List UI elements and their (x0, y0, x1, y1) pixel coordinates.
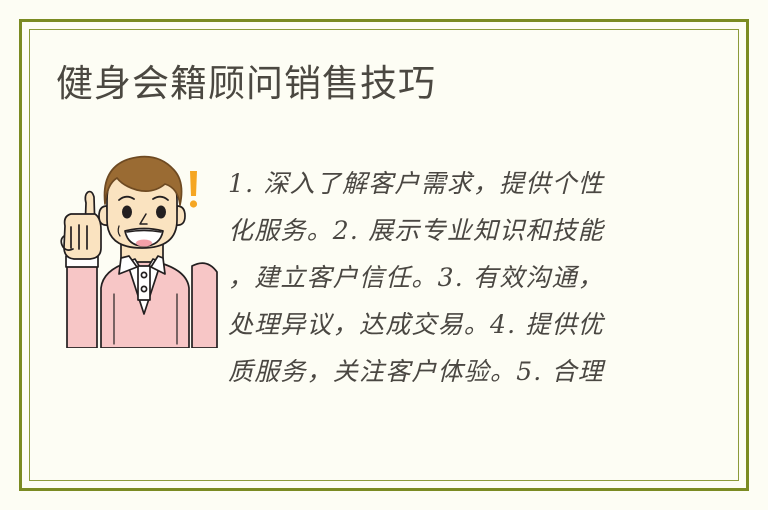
body-line: 1. 深入了解客户需求，提供个性 (228, 160, 668, 207)
page-title: 健身会籍顾问销售技巧 (56, 62, 436, 106)
body-copy: 1. 深入了解客户需求，提供个性 化服务。2. 展示专业知识和技能 ，建立客户信… (228, 160, 668, 395)
man-pointing-up-illustration (57, 148, 232, 348)
exclamation-mark-icon (190, 171, 197, 208)
poster-card: 健身会籍顾问销售技巧 (0, 0, 768, 510)
body-line: ，建立客户信任。3. 有效沟通， (228, 254, 668, 301)
body-line: 化服务。2. 展示专业知识和技能 (228, 207, 668, 254)
body-line: 质服务，关注客户体验。5. 合理 (228, 348, 668, 395)
body-line: 处理异议，达成交易。4. 提供优 (228, 301, 668, 348)
